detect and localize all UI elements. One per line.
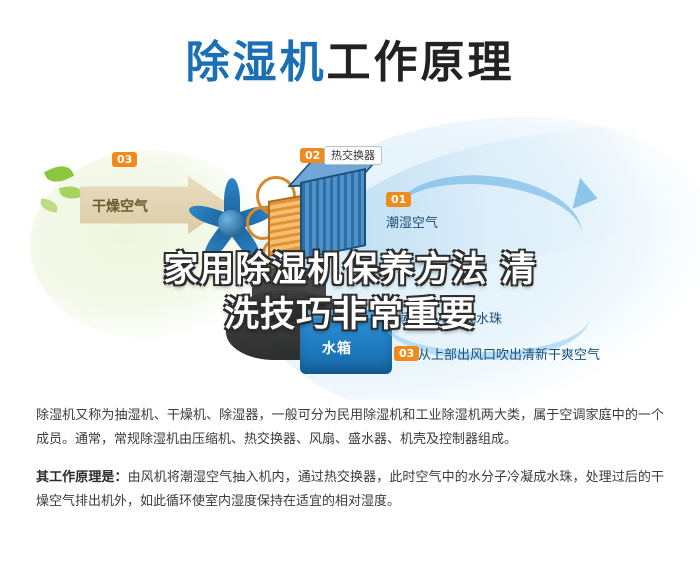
outlet-air-label: 从上部出风口吹出清新干爽空气 xyxy=(418,344,600,363)
page-title: 除湿机工作原理 xyxy=(0,26,700,90)
callout-badge-02: 02 xyxy=(300,148,325,163)
article-paragraph-2-label: 其工作原理是： xyxy=(36,470,128,485)
dry-air-label: 干燥空气 xyxy=(92,196,148,216)
heat-exchanger-block xyxy=(300,168,366,260)
humid-air-label-2: 潮湿 xyxy=(508,256,534,275)
evaporator-water-label: 蒸发器冷凝成水珠 xyxy=(398,308,502,327)
callout-badge-01: 01 xyxy=(386,192,411,207)
callout-badge-03-top: 03 xyxy=(112,152,137,167)
heat-exchanger-tag: 热交换器 xyxy=(324,146,382,165)
callout-badge-03-bottom: 03 xyxy=(394,346,419,361)
water-tank-label: 水箱 xyxy=(322,338,352,358)
working-principle-illustration: 除湿机工作原理 干燥空气 水箱 xyxy=(0,0,700,400)
article-paragraph-2-text: 由风机将潮湿空气抽入机内，通过热交换器，此时空气中的水分子冷凝成水珠，处理过后的… xyxy=(36,470,664,509)
page-title-dark: 工作原理 xyxy=(327,37,515,88)
page-title-blue: 除湿机 xyxy=(186,37,327,88)
article-body: 除湿机又称为抽湿机、干燥机、除湿器，一般可分为民用除湿机和工业除湿机两大类，属于… xyxy=(0,404,700,528)
fan-hub xyxy=(218,210,244,236)
article-paragraph-2: 其工作原理是：由风机将潮湿空气抽入机内，通过热交换器，此时空气中的水分子冷凝成水… xyxy=(36,466,664,514)
article-paragraph-1: 除湿机又称为抽湿机、干燥机、除湿器，一般可分为民用除湿机和工业除湿机两大类，属于… xyxy=(36,404,664,452)
page-root: 除湿机工作原理 干燥空气 水箱 xyxy=(0,0,700,566)
humid-air-label: 潮湿空气 xyxy=(386,212,438,231)
